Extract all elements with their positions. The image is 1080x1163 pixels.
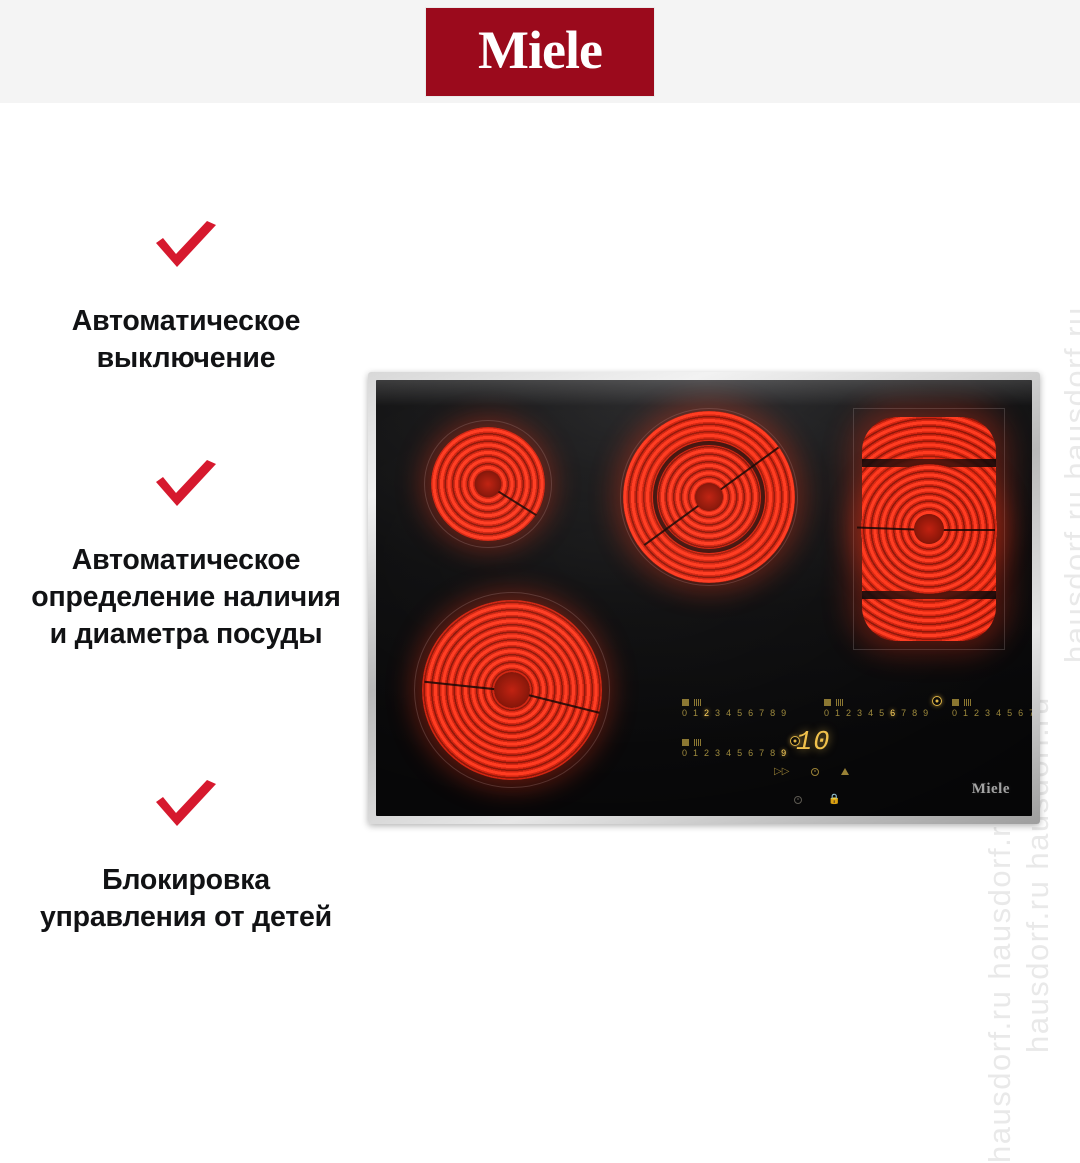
slider-icons — [952, 698, 1032, 706]
check-icon — [150, 780, 222, 836]
zone-level-icon — [836, 699, 843, 706]
slider-digit-scale[interactable]: 0123456789 — [952, 709, 1032, 718]
miele-logo-text: Miele — [478, 23, 602, 81]
lock-icon[interactable]: 🔒 — [828, 794, 840, 805]
cooktop-brand-mark: Miele — [972, 781, 1010, 798]
watermark-hausdorf-1: hausdorf.ru hausdorf.ru — [1058, 306, 1080, 663]
content-area: hausdorf.ru hausdorf.ru hausdorf.ru haus… — [0, 103, 1080, 1080]
timer-icon-row[interactable]: ▷▷ — [774, 766, 849, 777]
slider-zone-3[interactable]: 0123456789 — [952, 698, 1032, 718]
booster-icon[interactable]: ▷▷ — [774, 766, 789, 777]
product-image-cooktop: 0123456789 0123456789 — [368, 372, 1040, 824]
control-panel: 0123456789 0123456789 — [376, 380, 1032, 816]
feature-label: Блокировка управления от детей — [0, 862, 372, 936]
page-header: Miele — [0, 0, 1080, 103]
timer-display: 10 — [796, 730, 830, 757]
slider-zone-2[interactable]: 0123456789 — [824, 698, 942, 718]
check-icon — [150, 221, 222, 277]
zone-indicator-icon — [952, 699, 959, 706]
zone-indicator-icon — [682, 699, 689, 706]
slider-icons — [824, 698, 942, 706]
feature-item-pan-detection: Автоматическое определение наличия и диа… — [0, 460, 372, 653]
slider-zone-4[interactable]: 0123456789 — [682, 738, 800, 758]
feature-label: Автоматическое выключение — [0, 303, 372, 377]
clock-icon[interactable] — [811, 768, 819, 776]
timer-icon[interactable] — [841, 768, 849, 775]
feature-item-auto-shutoff: Автоматическое выключение — [0, 221, 372, 377]
slider-icons — [682, 698, 800, 706]
zone-indicator-icon — [824, 699, 831, 706]
zone-level-icon — [694, 699, 701, 706]
slider-digit-scale[interactable]: 0123456789 — [682, 749, 800, 758]
feature-label: Автоматическое определение наличия и диа… — [0, 542, 372, 653]
power-icon[interactable] — [794, 796, 802, 804]
slider-zone-1[interactable]: 0123456789 — [682, 698, 800, 718]
slider-icons — [682, 738, 800, 746]
zone-indicator-icon — [682, 739, 689, 746]
cooktop-glass-surface: 0123456789 0123456789 — [376, 380, 1032, 816]
watermark-hausdorf-3: hausdorf.ru hausdorf.ru — [982, 806, 1018, 1163]
gear-icon — [932, 696, 942, 708]
check-icon — [150, 460, 222, 516]
zone-level-icon — [694, 739, 701, 746]
miele-logo: Miele — [426, 8, 654, 96]
slider-digit-scale[interactable]: 0123456789 — [682, 709, 800, 718]
feature-item-child-lock: Блокировка управления от детей — [0, 780, 372, 936]
bottom-icon-row[interactable]: 🔒 — [794, 794, 840, 805]
slider-digit-scale[interactable]: 0123456789 — [824, 709, 942, 718]
zone-level-icon — [964, 699, 971, 706]
